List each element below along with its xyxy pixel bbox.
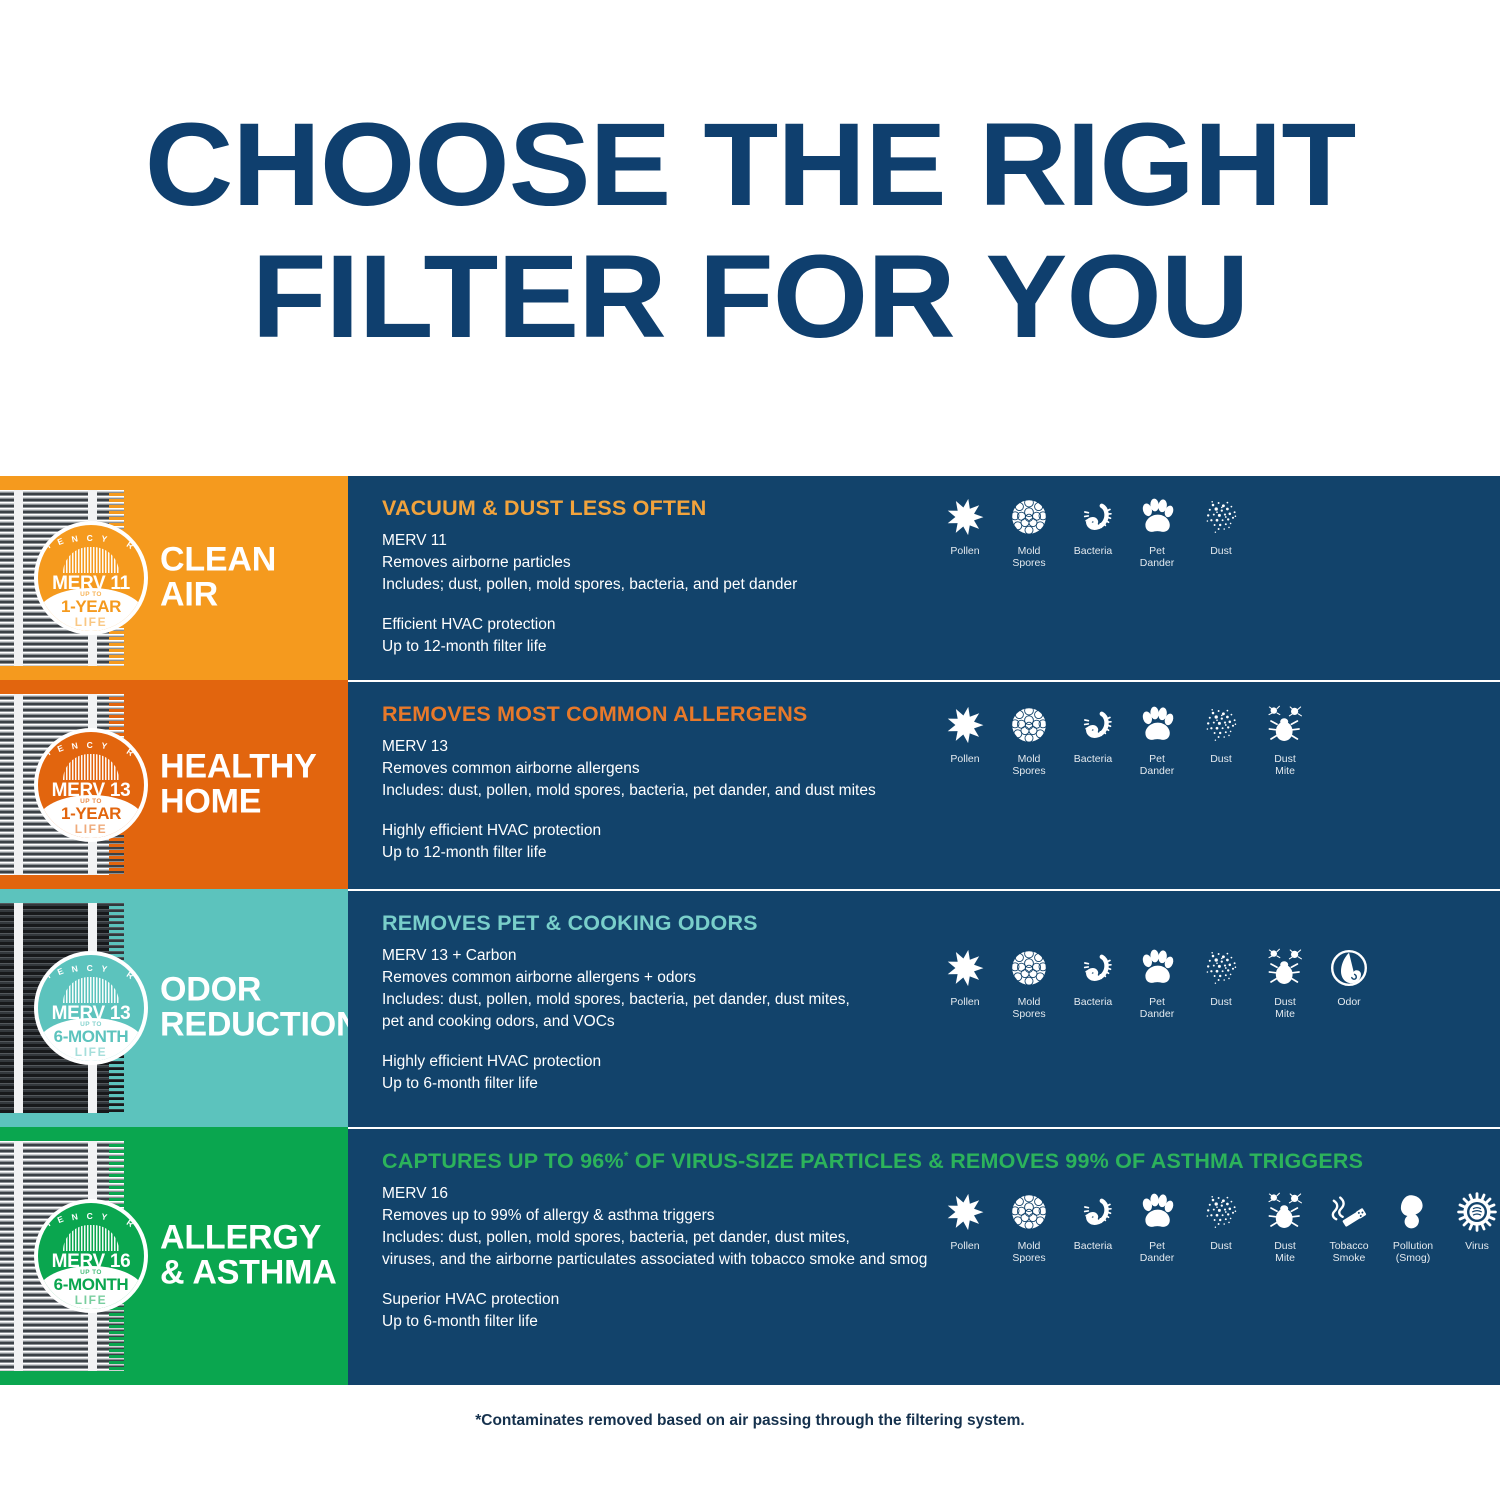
badge-life-word: LIFE [38, 822, 144, 836]
merv-badge-allergy-asthma: EFFICIENCY RATINGMERV 16UP TO6-MONTHLIFE [34, 1199, 148, 1313]
headline-allergy-asthma: CAPTURES UP TO 96%* OF VIRUS-SIZE PARTIC… [382, 1149, 1500, 1174]
contaminant-label: MoldSpores [997, 1240, 1061, 1264]
spacer [382, 1033, 1500, 1051]
tobacco-smoke-icon [1317, 1189, 1381, 1235]
contaminant-mold-spores: MoldSpores [997, 494, 1061, 569]
mold-spores-icon [997, 1189, 1061, 1235]
contaminant-mold-spores: MoldSpores [997, 1189, 1061, 1264]
dust-mite-icon [1253, 702, 1317, 748]
badge-upto-label: UP TO [38, 1021, 144, 1028]
pollen-icon [933, 702, 997, 748]
category-panel-odor-reduction[interactable]: EFFICIENCY RATINGMERV 13UP TO6-MONTHLIFE… [0, 889, 348, 1127]
detail-line: Superior HVAC protection [382, 1289, 1500, 1311]
category-title-clean-air: CLEANAIR [160, 543, 276, 614]
badge-life-word: LIFE [38, 1045, 144, 1059]
detail-panel-allergy-asthma: CAPTURES UP TO 96%* OF VIRUS-SIZE PARTIC… [348, 1127, 1500, 1385]
contaminant-label: Dust [1189, 1240, 1253, 1252]
detail-panel-odor-reduction: REMOVES PET & COOKING ODORSMERV 13 + Car… [348, 889, 1500, 1127]
contaminant-label: Bacteria [1061, 996, 1125, 1008]
pet-dander-icon [1125, 494, 1189, 540]
contaminant-label: Dust [1189, 753, 1253, 765]
contaminant-label: DustMite [1253, 1240, 1317, 1264]
detail-panel-clean-air: VACUUM & DUST LESS OFTENMERV 11Removes a… [348, 476, 1500, 680]
contaminant-virus: Virus [1445, 1189, 1500, 1264]
contaminant-dust: Dust [1189, 702, 1253, 777]
dust-mite-icon [1253, 945, 1317, 991]
badge-life-label: 6-MONTH [38, 1275, 144, 1295]
contaminant-label: Dust [1189, 545, 1253, 557]
contaminant-icon-strip: PollenMoldSporesBacteriaPetDanderDustDus… [933, 1189, 1500, 1264]
contaminant-label: Pollen [933, 1240, 997, 1252]
contaminant-label: Bacteria [1061, 1240, 1125, 1252]
badge-arc-text: EFFICIENCY RATING [38, 740, 144, 750]
badge-upto-label: UP TO [38, 1269, 144, 1276]
contaminant-label: MoldSpores [997, 545, 1061, 569]
contaminant-label: PetDander [1125, 545, 1189, 569]
contaminant-label: PetDander [1125, 753, 1189, 777]
category-title-healthy-home: HEALTHYHOME [160, 749, 317, 820]
pollen-icon [933, 494, 997, 540]
detail-line: Highly efficient HVAC protection [382, 1051, 1500, 1073]
contaminant-label: DustMite [1253, 753, 1317, 777]
contaminant-pet-dander: PetDander [1125, 494, 1189, 569]
category-title-allergy-asthma: ALLERGY& ASTHMA [160, 1221, 337, 1292]
filter-row: EFFICIENCY RATINGMERV 16UP TO6-MONTHLIFE… [0, 1127, 1500, 1385]
pollution-smog-icon [1381, 1189, 1445, 1235]
badge-arc-text: EFFICIENCY RATING [38, 963, 144, 973]
contaminant-pollution-smog: Pollution(Smog) [1381, 1189, 1445, 1264]
pet-dander-icon [1125, 702, 1189, 748]
contaminant-mold-spores: MoldSpores [997, 945, 1061, 1020]
contaminant-label: Dust [1189, 996, 1253, 1008]
title-line-2: FILTER FOR YOU [0, 240, 1500, 356]
contaminant-tobacco-smoke: TobaccoSmoke [1317, 1189, 1381, 1264]
contaminant-odor: Odor [1317, 945, 1381, 1020]
contaminant-label: Odor [1317, 996, 1381, 1008]
badge-life-word: LIFE [38, 615, 144, 629]
detail-panel-healthy-home: REMOVES MOST COMMON ALLERGENSMERV 13Remo… [348, 680, 1500, 889]
category-panel-healthy-home[interactable]: EFFICIENCY RATINGMERV 13UP TO1-YEARLIFEH… [0, 680, 348, 889]
dust-mite-icon [1253, 1189, 1317, 1235]
contaminant-label: MoldSpores [997, 996, 1061, 1020]
spacer [382, 596, 1500, 614]
contaminant-bacteria: Bacteria [1061, 702, 1125, 777]
contaminant-label: Pollen [933, 545, 997, 557]
contaminant-bacteria: Bacteria [1061, 945, 1125, 1020]
merv-badge-clean-air: EFFICIENCY RATINGMERV 11UP TO1-YEARLIFE [34, 521, 148, 635]
contaminant-pollen: Pollen [933, 945, 997, 1020]
spacer [382, 1271, 1500, 1289]
badge-fan-icon [63, 977, 119, 1003]
badge-arc-text: EFFICIENCY RATING [38, 533, 144, 543]
badge-fan-icon [63, 547, 119, 573]
contaminant-dust-mite: DustMite [1253, 945, 1317, 1020]
detail-line: Up to 12-month filter life [382, 842, 1500, 864]
contaminant-pet-dander: PetDander [1125, 1189, 1189, 1264]
category-panel-clean-air[interactable]: EFFICIENCY RATINGMERV 11UP TO1-YEARLIFEC… [0, 476, 348, 680]
contaminant-label: Virus [1445, 1240, 1500, 1252]
asterisk-marker: * [624, 1149, 629, 1163]
contaminant-icon-strip: PollenMoldSporesBacteriaPetDanderDustDus… [933, 945, 1381, 1020]
detail-line: Up to 12-month filter life [382, 636, 1500, 658]
detail-line: Includes; dust, pollen, mold spores, bac… [382, 574, 1500, 596]
contaminant-label: MoldSpores [997, 753, 1061, 777]
badge-life-block: UP TO1-YEARLIFE [38, 588, 144, 631]
contaminant-dust: Dust [1189, 945, 1253, 1020]
badge-life-block: UP TO6-MONTHLIFE [38, 1266, 144, 1309]
contaminant-pollen: Pollen [933, 702, 997, 777]
page-title: CHOOSE THE RIGHT FILTER FOR YOU [0, 108, 1500, 355]
contaminant-label: Pollen [933, 753, 997, 765]
bacteria-icon [1061, 1189, 1125, 1235]
contaminant-dust: Dust [1189, 1189, 1253, 1264]
badge-arc-text: EFFICIENCY RATING [38, 1211, 144, 1221]
badge-life-label: 1-YEAR [38, 804, 144, 824]
title-line-1: CHOOSE THE RIGHT [0, 108, 1500, 224]
detail-line: Highly efficient HVAC protection [382, 820, 1500, 842]
pet-dander-icon [1125, 945, 1189, 991]
contaminant-pollen: Pollen [933, 494, 997, 569]
badge-life-label: 1-YEAR [38, 597, 144, 617]
pet-dander-icon [1125, 1189, 1189, 1235]
contaminant-label: Bacteria [1061, 753, 1125, 765]
contaminant-pollen: Pollen [933, 1189, 997, 1264]
dust-icon [1189, 702, 1253, 748]
detail-line: Up to 6-month filter life [382, 1311, 1500, 1333]
filter-row: EFFICIENCY RATINGMERV 13UP TO6-MONTHLIFE… [0, 889, 1500, 1127]
detail-line: Includes: dust, pollen, mold spores, bac… [382, 780, 1500, 802]
badge-upto-label: UP TO [38, 798, 144, 805]
mold-spores-icon [997, 945, 1061, 991]
filter-row: EFFICIENCY RATINGMERV 11UP TO1-YEARLIFEC… [0, 476, 1500, 680]
contaminant-label: PetDander [1125, 996, 1189, 1020]
dust-icon [1189, 945, 1253, 991]
badge-fan-icon [63, 754, 119, 780]
contaminant-dust: Dust [1189, 494, 1253, 569]
contaminant-bacteria: Bacteria [1061, 494, 1125, 569]
badge-life-block: UP TO6-MONTHLIFE [38, 1018, 144, 1061]
filter-row: EFFICIENCY RATINGMERV 13UP TO1-YEARLIFEH… [0, 680, 1500, 889]
badge-life-word: LIFE [38, 1293, 144, 1307]
contaminant-label: Pollen [933, 996, 997, 1008]
pollen-icon [933, 945, 997, 991]
detail-line: Efficient HVAC protection [382, 614, 1500, 636]
bacteria-icon [1061, 494, 1125, 540]
contaminant-pet-dander: PetDander [1125, 702, 1189, 777]
contaminant-bacteria: Bacteria [1061, 1189, 1125, 1264]
badge-life-block: UP TO1-YEARLIFE [38, 795, 144, 838]
contaminant-label: Pollution(Smog) [1381, 1240, 1445, 1264]
mold-spores-icon [997, 494, 1061, 540]
contaminant-dust-mite: DustMite [1253, 702, 1317, 777]
odor-icon [1317, 945, 1381, 991]
footnote: *Contaminates removed based on air passi… [0, 1412, 1500, 1430]
dust-icon [1189, 494, 1253, 540]
badge-life-label: 6-MONTH [38, 1027, 144, 1047]
spacer [382, 802, 1500, 820]
virus-icon [1445, 1189, 1500, 1235]
detail-line: Up to 6-month filter life [382, 1073, 1500, 1095]
contaminant-label: TobaccoSmoke [1317, 1240, 1381, 1264]
bacteria-icon [1061, 702, 1125, 748]
infographic-page: CHOOSE THE RIGHT FILTER FOR YOU EFFICIEN… [0, 0, 1500, 1500]
mold-spores-icon [997, 702, 1061, 748]
contaminant-dust-mite: DustMite [1253, 1189, 1317, 1264]
bacteria-icon [1061, 945, 1125, 991]
badge-upto-label: UP TO [38, 591, 144, 598]
contaminant-label: PetDander [1125, 1240, 1189, 1264]
contaminant-icon-strip: PollenMoldSporesBacteriaPetDanderDust [933, 494, 1253, 569]
dust-icon [1189, 1189, 1253, 1235]
filter-comparison-table: EFFICIENCY RATINGMERV 11UP TO1-YEARLIFEC… [0, 476, 1500, 1385]
headline-odor-reduction: REMOVES PET & COOKING ODORS [382, 911, 1500, 936]
contaminant-label: DustMite [1253, 996, 1317, 1020]
category-panel-allergy-asthma[interactable]: EFFICIENCY RATINGMERV 16UP TO6-MONTHLIFE… [0, 1127, 348, 1385]
category-title-odor-reduction: ODORREDUCTION [160, 973, 348, 1044]
contaminant-label: Bacteria [1061, 545, 1125, 557]
contaminant-mold-spores: MoldSpores [997, 702, 1061, 777]
merv-badge-odor-reduction: EFFICIENCY RATINGMERV 13UP TO6-MONTHLIFE [34, 951, 148, 1065]
merv-badge-healthy-home: EFFICIENCY RATINGMERV 13UP TO1-YEARLIFE [34, 728, 148, 842]
contaminant-pet-dander: PetDander [1125, 945, 1189, 1020]
contaminant-icon-strip: PollenMoldSporesBacteriaPetDanderDustDus… [933, 702, 1317, 777]
pollen-icon [933, 1189, 997, 1235]
badge-fan-icon [63, 1225, 119, 1251]
